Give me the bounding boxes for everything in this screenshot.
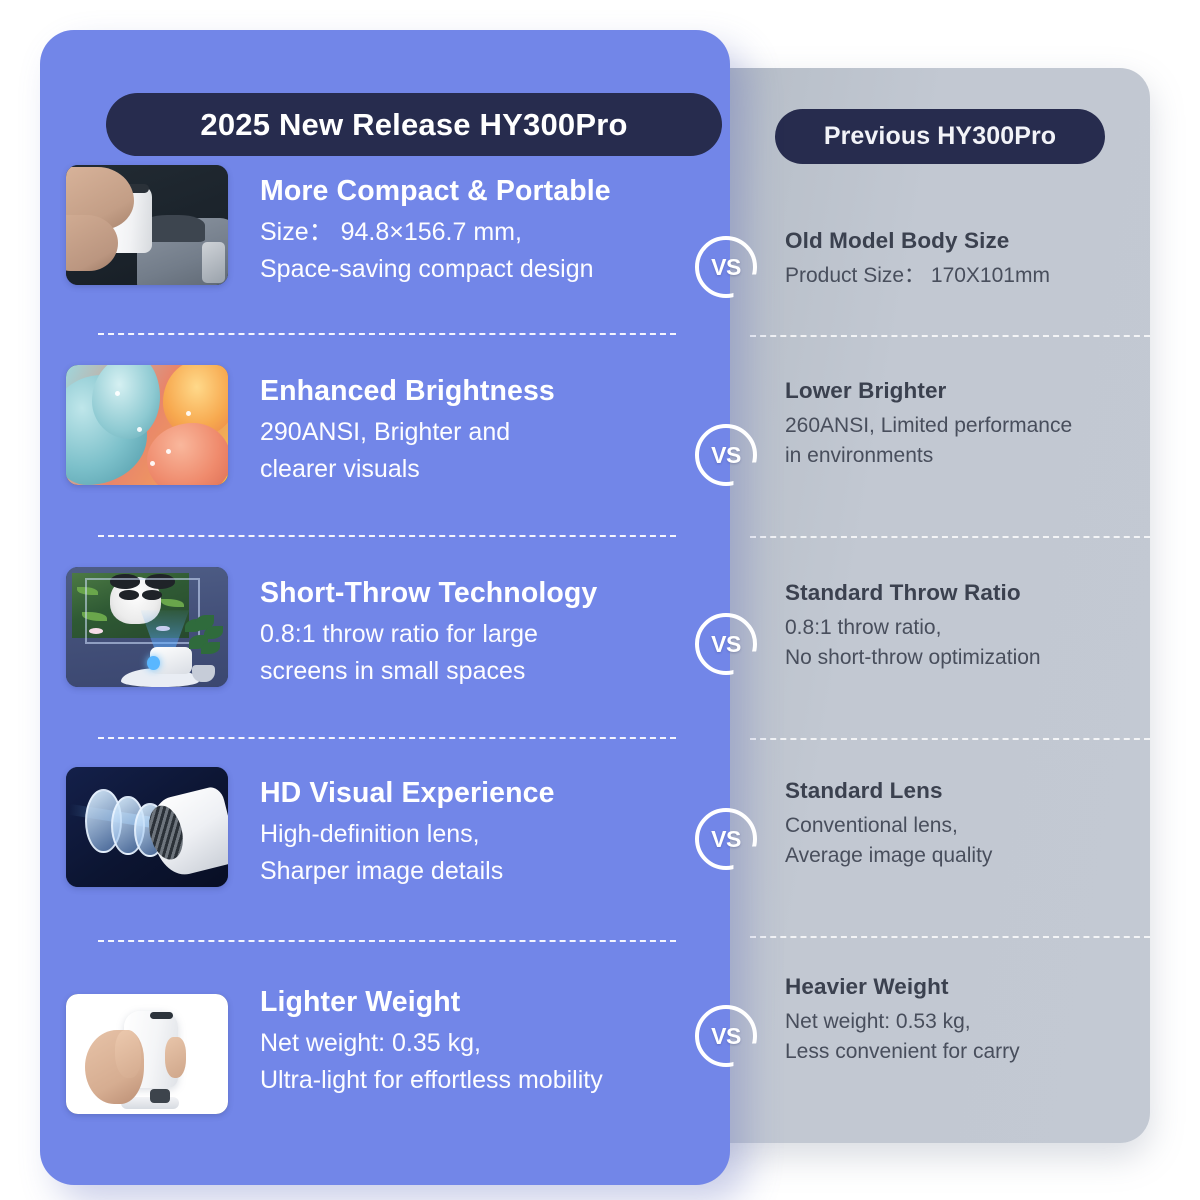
vs-badge-2: VS xyxy=(695,424,757,486)
new-row-heading: Lighter Weight xyxy=(260,986,720,1019)
previous-row-brightness: Lower Brighter 260ANSI, Limited performa… xyxy=(785,378,1145,471)
previous-row-line1: Net weight: 0.53 kg, xyxy=(785,1007,1145,1037)
previous-row-line1: Conventional lens, xyxy=(785,811,1145,841)
previous-row-heading: Lower Brighter xyxy=(785,378,1145,404)
exploded-lens-elements-photo xyxy=(66,767,228,887)
projected-panda-scene-photo xyxy=(66,567,228,687)
vs-label: VS xyxy=(711,1025,741,1048)
vs-label: VS xyxy=(711,633,741,656)
new-row-divider xyxy=(98,737,676,739)
new-row-heading: HD Visual Experience xyxy=(260,777,720,810)
previous-model-rows: Old Model Body Size Product Size： 170X10… xyxy=(690,68,1150,1143)
new-row-heading: Short-Throw Technology xyxy=(260,577,720,610)
new-row-heading: Enhanced Brightness xyxy=(260,375,720,408)
previous-row-divider xyxy=(750,738,1150,740)
new-row-heading: More Compact & Portable xyxy=(260,175,720,208)
hand-holding-projector-photo xyxy=(66,994,228,1114)
new-row-line2: Ultra-light for effortless mobility xyxy=(260,1062,720,1099)
previous-row-lens: Standard Lens Conventional lens, Average… xyxy=(785,778,1145,871)
vs-badge-3: VS xyxy=(695,613,757,675)
vs-badge-4: VS xyxy=(695,808,757,870)
vs-badge-5: VS xyxy=(695,1005,757,1067)
previous-row-throw-ratio: Standard Throw Ratio 0.8:1 throw ratio, … xyxy=(785,580,1145,673)
previous-row-heading: Heavier Weight xyxy=(785,974,1145,1000)
new-row-line1: 0.8:1 throw ratio for large xyxy=(260,616,720,653)
vs-label: VS xyxy=(711,256,741,279)
colorful-glossy-petals-photo xyxy=(66,365,228,485)
new-release-panel: 2025 New Release HY300Pro More Compact &… xyxy=(40,30,730,1185)
previous-row-line2: Average image quality xyxy=(785,841,1145,871)
comparison-infographic: Previous HY300Pro Old Model Body Size Pr… xyxy=(0,0,1200,1200)
vs-label: VS xyxy=(711,444,741,467)
new-row-divider xyxy=(98,333,676,335)
previous-row-body-size: Old Model Body Size Product Size： 170X10… xyxy=(785,228,1145,291)
previous-model-panel: Previous HY300Pro Old Model Body Size Pr… xyxy=(690,68,1150,1143)
projector-in-backpack-photo xyxy=(66,165,228,285)
new-row-line2: clearer visuals xyxy=(260,451,720,488)
new-row-divider xyxy=(98,940,676,942)
new-row-divider xyxy=(98,535,676,537)
previous-row-heading: Standard Lens xyxy=(785,778,1145,804)
previous-row-divider xyxy=(750,536,1150,538)
new-row-line1: 290ANSI, Brighter and xyxy=(260,414,720,451)
vs-badge-1: VS xyxy=(695,236,757,298)
new-row-line1: Net weight: 0.35 kg, xyxy=(260,1025,720,1062)
previous-row-heading: Standard Throw Ratio xyxy=(785,580,1145,606)
new-row-line1: High-definition lens, xyxy=(260,816,720,853)
previous-row-line2: Less convenient for carry xyxy=(785,1037,1145,1067)
previous-row-line1: Product Size： 170X101mm xyxy=(785,261,1145,291)
previous-row-heading: Old Model Body Size xyxy=(785,228,1145,254)
new-row-line2: screens in small spaces xyxy=(260,653,720,690)
new-release-title-text: 2025 New Release HY300Pro xyxy=(200,107,627,143)
vs-label: VS xyxy=(711,828,741,851)
new-release-title-pill: 2025 New Release HY300Pro xyxy=(106,93,722,156)
previous-row-divider xyxy=(750,335,1150,337)
new-row-line1: Size： 94.8×156.7 mm, xyxy=(260,214,720,251)
previous-row-line1: 260ANSI, Limited performance xyxy=(785,411,1145,441)
previous-row-weight: Heavier Weight Net weight: 0.53 kg, Less… xyxy=(785,974,1145,1067)
previous-row-line2: No short-throw optimization xyxy=(785,643,1145,673)
new-row-line2: Sharper image details xyxy=(260,853,720,890)
previous-row-divider xyxy=(750,936,1150,938)
previous-row-line2: in environments xyxy=(785,441,1145,471)
previous-row-line1: 0.8:1 throw ratio, xyxy=(785,613,1145,643)
new-row-line2: Space-saving compact design xyxy=(260,251,720,288)
